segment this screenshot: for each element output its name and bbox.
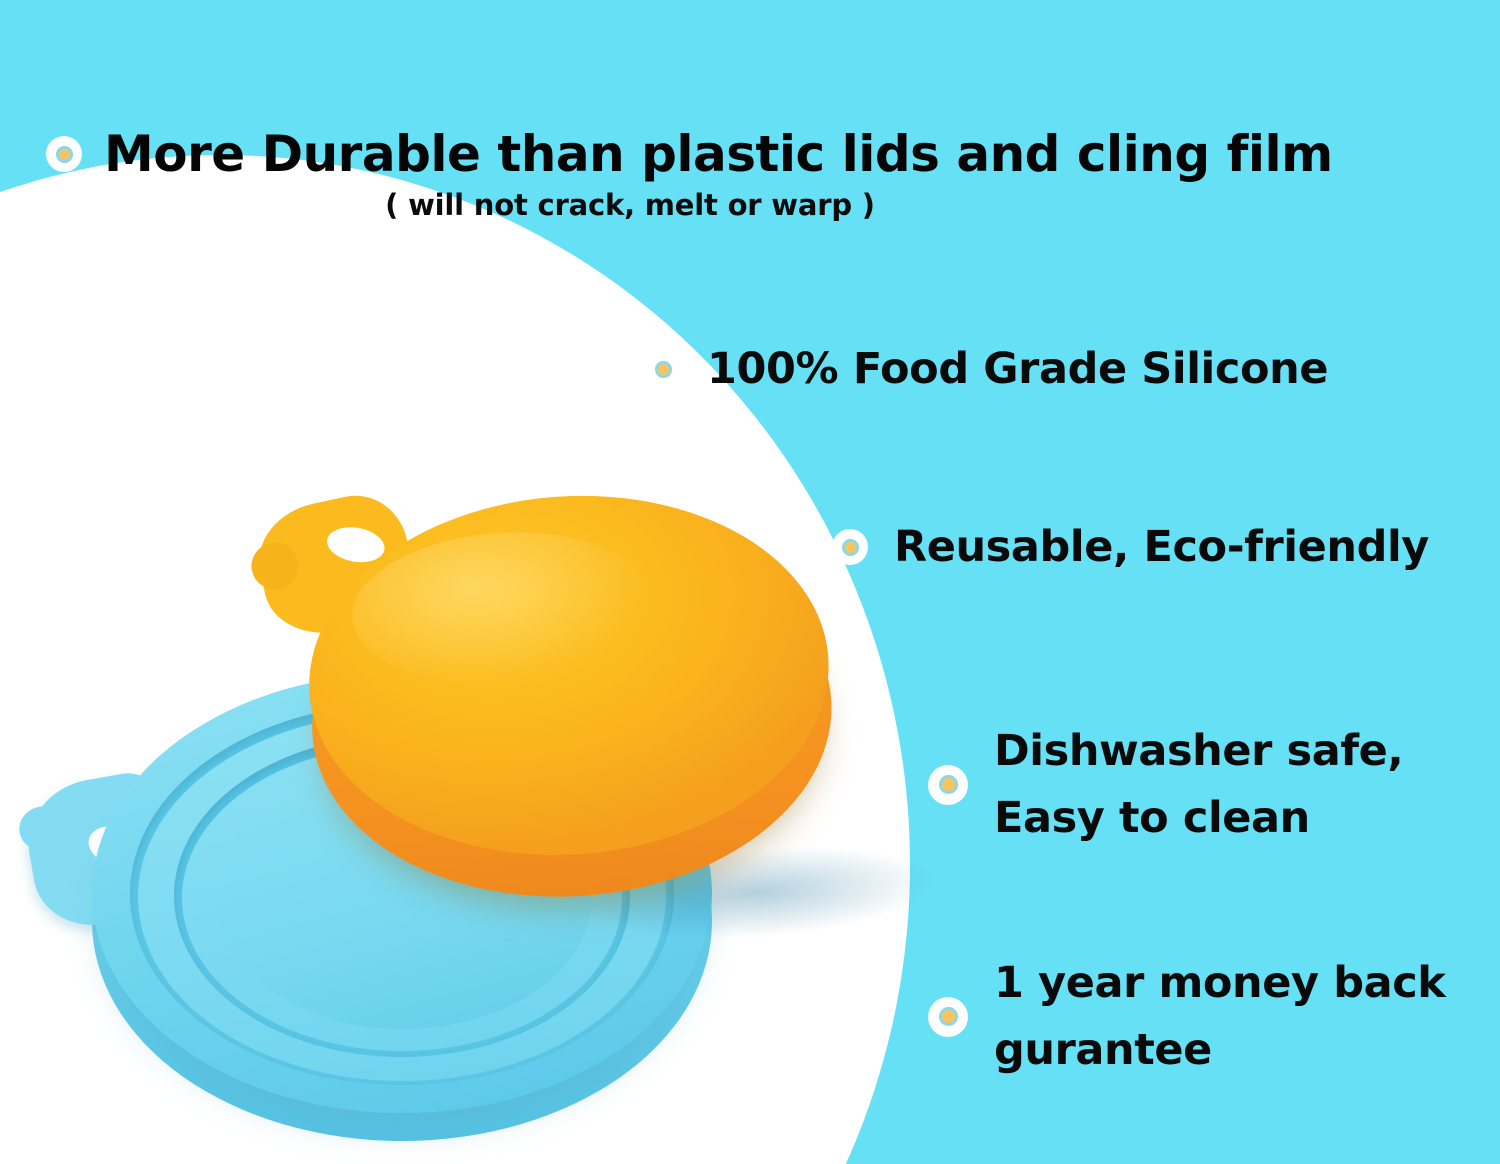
feature-item-money-back-guarantee: 1 year money back gurantee <box>928 950 1445 1083</box>
feature-label: 100% Food Grade Silicone <box>707 340 1328 398</box>
ring-bullet-icon <box>645 351 681 387</box>
headline-title: More Durable than plastic lids and cling… <box>104 128 1333 180</box>
feature-label: 1 year money back gurantee <box>994 950 1445 1083</box>
orange-silicone-can-lid <box>248 463 844 922</box>
feature-item-food-grade: 100% Food Grade Silicone <box>645 340 1328 398</box>
headline-row: More Durable than plastic lids and cling… <box>0 128 1500 180</box>
headline-subtitle: ( will not crack, melt or warp ) <box>0 188 1500 222</box>
silicone-can-lids-photo <box>0 430 900 1164</box>
feature-item-reusable: Reusable, Eco-friendly <box>832 518 1429 576</box>
orange-lid-tab-notch <box>247 539 302 594</box>
ring-bullet-icon <box>928 765 968 805</box>
feature-label: Reusable, Eco-friendly <box>894 518 1429 576</box>
infographic-canvas: More Durable than plastic lids and cling… <box>0 0 1500 1164</box>
headline-block: More Durable than plastic lids and cling… <box>0 128 1500 222</box>
feature-item-dishwasher-safe: Dishwasher safe, Easy to clean <box>928 718 1403 851</box>
feature-label: Dishwasher safe, Easy to clean <box>994 718 1403 851</box>
ring-bullet-icon <box>832 529 868 565</box>
ring-bullet-icon <box>46 136 82 172</box>
ring-bullet-icon <box>928 997 968 1037</box>
